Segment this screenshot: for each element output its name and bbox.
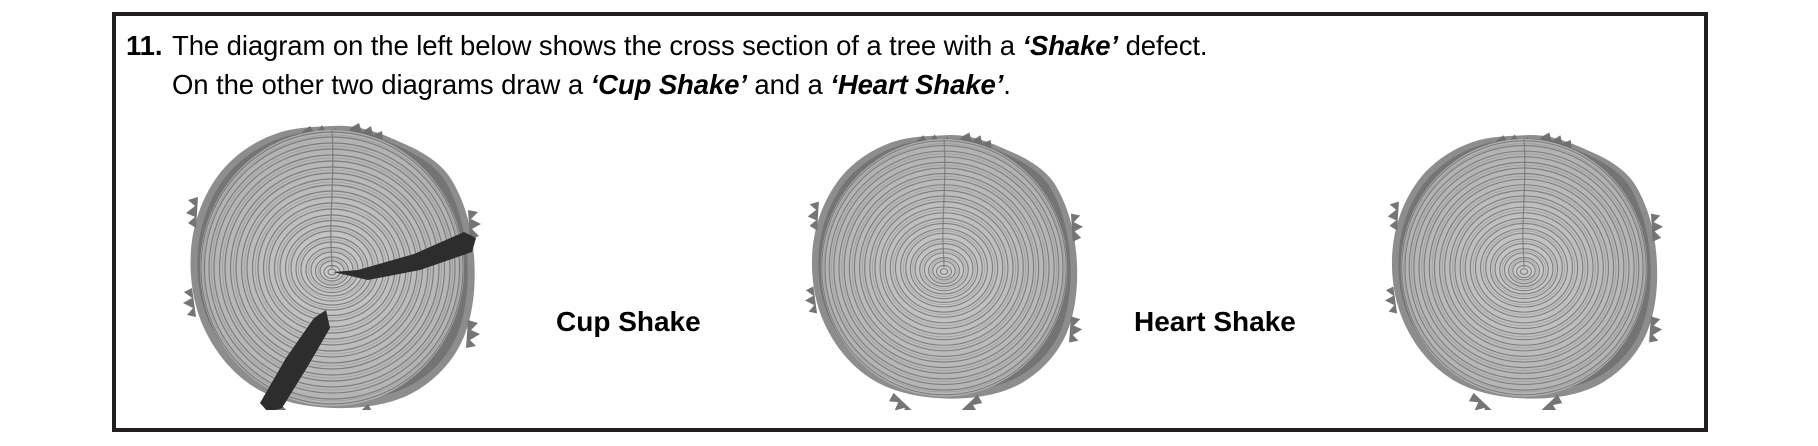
- tree-cross-section-blank-cup[interactable]: [804, 120, 1084, 410]
- label-cup-shake: Cup Shake: [556, 306, 701, 338]
- question-line-1-text-b: defect.: [1118, 30, 1207, 61]
- question-line-2-text-b: and a: [747, 69, 830, 100]
- term-cup-shake: ‘Cup Shake’: [591, 69, 747, 100]
- question-frame: 11.The diagram on the left below shows t…: [112, 12, 1708, 432]
- tree-diagram-svg-shake: [182, 120, 482, 410]
- question-line-2: On the other two diagrams draw a ‘Cup Sh…: [126, 65, 1686, 104]
- term-shake: ‘Shake’: [1022, 30, 1118, 61]
- tree-cross-section-with-shake: [182, 120, 482, 410]
- term-heart-shake: ‘Heart Shake’: [830, 69, 1003, 100]
- tree-cross-section-blank-heart[interactable]: [1384, 120, 1664, 410]
- question-number: 11.: [126, 26, 172, 65]
- page-canvas: 11.The diagram on the left below shows t…: [0, 0, 1818, 446]
- tree-diagram-svg-cup[interactable]: [804, 120, 1084, 410]
- question-line-1-text-a: The diagram on the left below shows the …: [172, 30, 1022, 61]
- question-line-2-text-a: On the other two diagrams draw a: [172, 69, 591, 100]
- tree-diagram-svg-heart[interactable]: [1384, 120, 1664, 410]
- label-heart-shake: Heart Shake: [1134, 306, 1296, 338]
- question-line-1: 11.The diagram on the left below shows t…: [126, 26, 1686, 65]
- question-text-block: 11.The diagram on the left below shows t…: [126, 26, 1686, 104]
- question-line-2-text-c: .: [1003, 69, 1011, 100]
